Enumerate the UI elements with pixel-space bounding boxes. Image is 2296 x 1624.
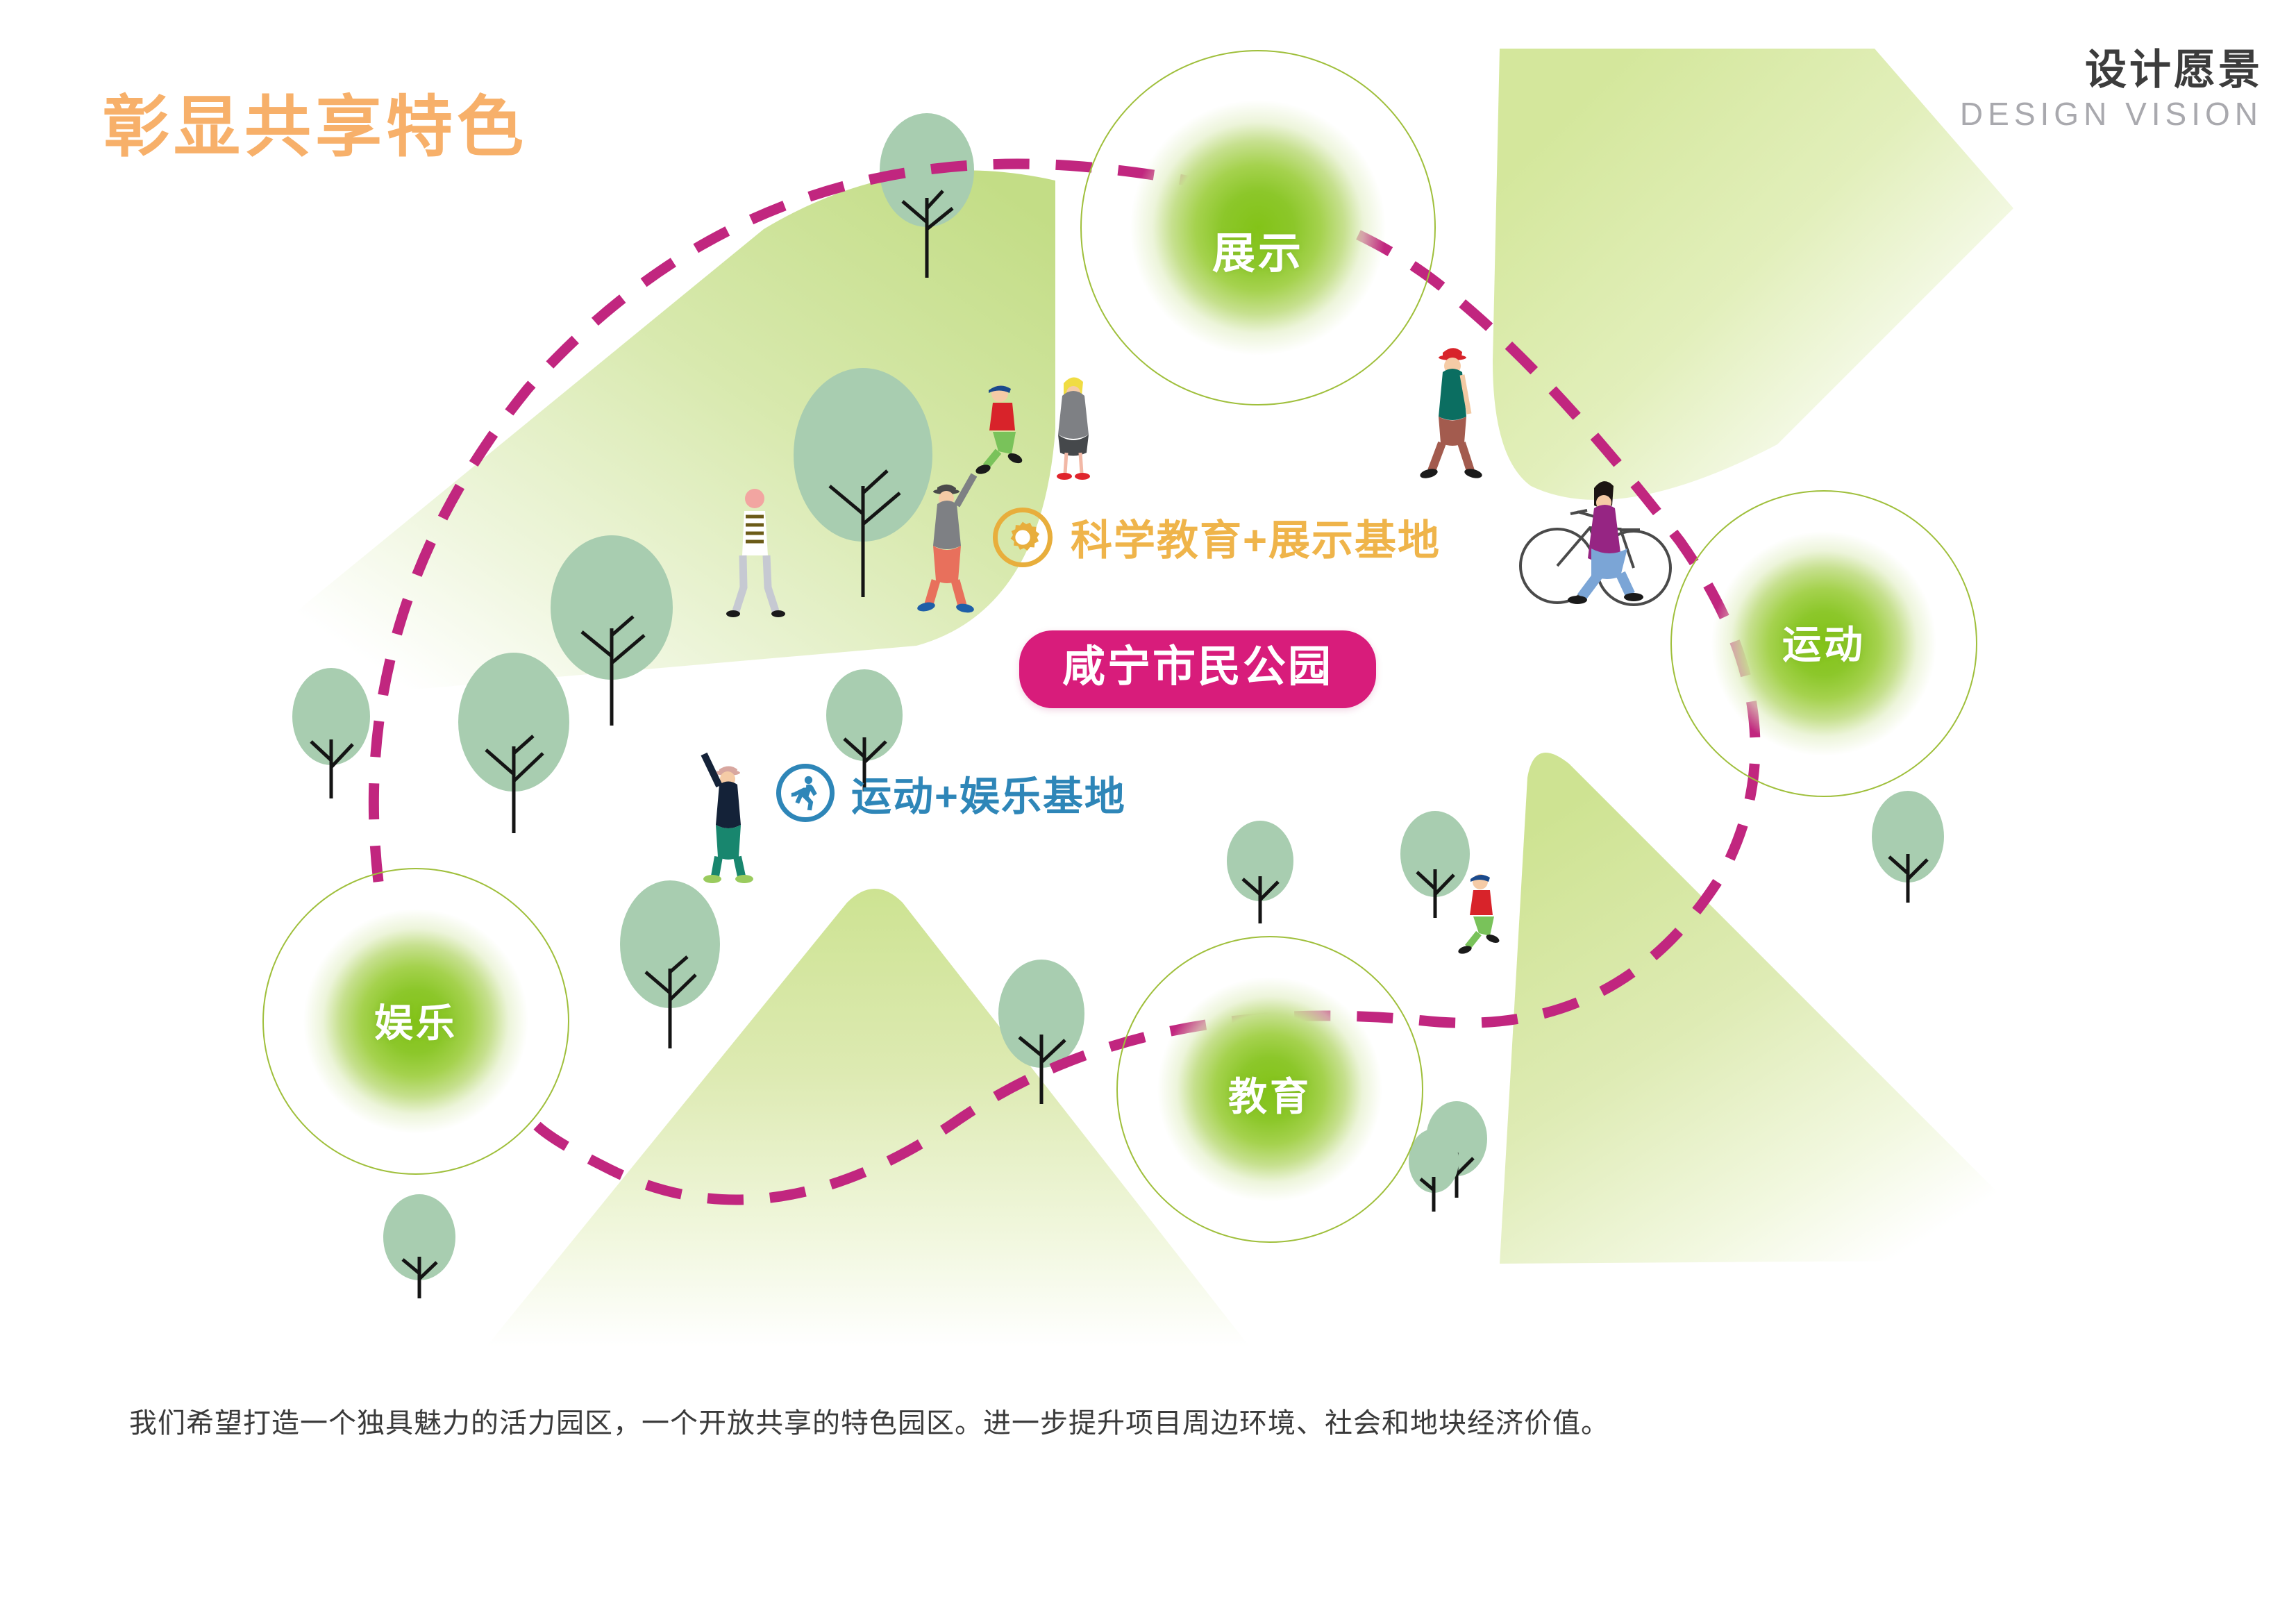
person-runner-red-2 [1457,874,1500,955]
header-title-en: DESIGN VISION [1960,94,2263,135]
footer-caption: 我们希望打造一个独具魅力的活力园区，一个开放共享的特色园区。进一步提升项目周边环… [129,1400,1609,1441]
tree [1409,1129,1459,1212]
runner-icon [776,764,835,822]
tree [292,668,370,798]
park-name-badge[interactable]: 咸宁市民公园 [1019,630,1376,708]
node-label: 娱乐 [374,992,458,1048]
page-title: 彰显共享特色 [103,94,528,161]
tree [620,880,720,1048]
gear-icon [993,508,1053,567]
node-edu[interactable]: 教育 [1116,936,1423,1243]
tree [1872,791,1944,903]
tag-label: 科学教育+展示基地 [1071,507,1441,567]
tree [1400,811,1470,918]
hill-shape-bottom-right [1500,753,2035,1264]
hill-shape-upper-right [1493,49,2013,500]
node-display[interactable]: 展示 [1080,50,1436,405]
person-waving-navy [703,754,753,883]
tag-label: 运动+娱乐基地 [851,764,1126,822]
tree [383,1194,455,1298]
poster-canvas: 彰显共享特色 设计愿景 DESIGN VISION 展示 运动 娱乐 教育 科学… [0,0,2296,1624]
node-label: 教育 [1228,1066,1312,1122]
tag-sport-entertainment[interactable]: 运动+娱乐基地 [776,764,1126,822]
node-fun[interactable]: 娱乐 [262,868,569,1175]
person-teal-coat [1419,348,1483,480]
tag-science-education[interactable]: 科学教育+展示基地 [993,507,1441,567]
header-title-cn: 设计愿景 [1960,46,2263,94]
node-label: 运动 [1782,614,1866,670]
tree [1227,821,1293,923]
person-gray-coat [1057,377,1090,480]
tree [551,535,673,726]
node-sport[interactable]: 运动 [1670,490,1977,797]
node-label: 展示 [1212,218,1304,281]
header-block: 设计愿景 DESIGN VISION [1960,46,2263,135]
tree [458,653,569,833]
